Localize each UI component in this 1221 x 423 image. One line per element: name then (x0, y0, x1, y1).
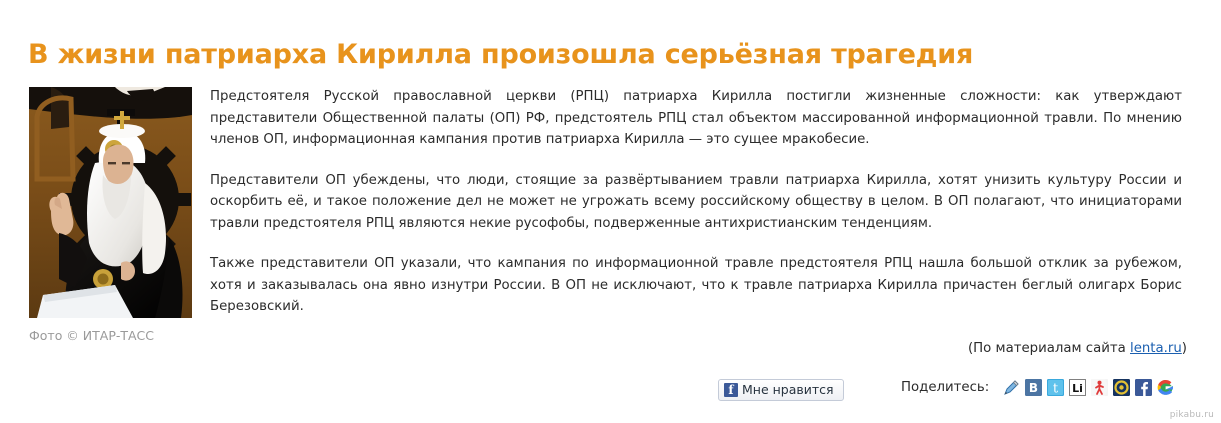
photo-image (29, 87, 192, 318)
article-paragraph: Представители ОП убеждены, что люди, сто… (210, 170, 1182, 235)
svg-text:Li: Li (1072, 382, 1083, 395)
article-paragraph: Также представители ОП указали, что камп… (210, 253, 1182, 318)
source-link[interactable]: lenta.ru (1130, 341, 1182, 356)
page-title: В жизни патриарха Кирилла произошла серь… (28, 38, 1188, 72)
share-block: Поделитесь: B t Li (901, 379, 1174, 396)
google-bookmarks-icon[interactable] (1157, 379, 1174, 396)
source-attribution: (По материалам сайта lenta.ru) (968, 340, 1187, 358)
mailru-icon[interactable] (1113, 379, 1130, 396)
share-label: Поделитесь: (901, 380, 989, 395)
svg-text:B: B (1029, 381, 1038, 395)
vkontakte-icon[interactable]: B (1025, 379, 1042, 396)
watermark: pikabu.ru (1170, 410, 1214, 420)
source-prefix: (По материалам сайта (968, 341, 1130, 356)
svg-text:t: t (1053, 382, 1059, 397)
twitter-icon[interactable]: t (1047, 379, 1064, 396)
share-icon-list: B t Li (1003, 379, 1174, 396)
facebook-like-label: Мне нравится (742, 383, 834, 397)
photo-caption: Фото © ИТАР-ТАСС (29, 328, 192, 344)
photo-block: Фото © ИТАР-ТАСС (29, 87, 192, 344)
facebook-f-icon: f (724, 383, 738, 397)
yaru-icon[interactable] (1091, 379, 1108, 396)
source-suffix: ) (1182, 341, 1187, 356)
social-bar: f Мне нравится Поделитесь: B t (0, 375, 1221, 405)
facebook-like-button[interactable]: f Мне нравится (718, 379, 844, 401)
facebook-icon[interactable] (1135, 379, 1152, 396)
patriarch-kirill-photo (29, 87, 192, 318)
liveinternet-icon[interactable]: Li (1069, 379, 1086, 396)
article-paragraph: Предстоятеля Русской православной церкви… (210, 86, 1182, 151)
article-body: Предстоятеля Русской православной церкви… (210, 86, 1182, 318)
pencil-icon[interactable] (1003, 379, 1020, 396)
